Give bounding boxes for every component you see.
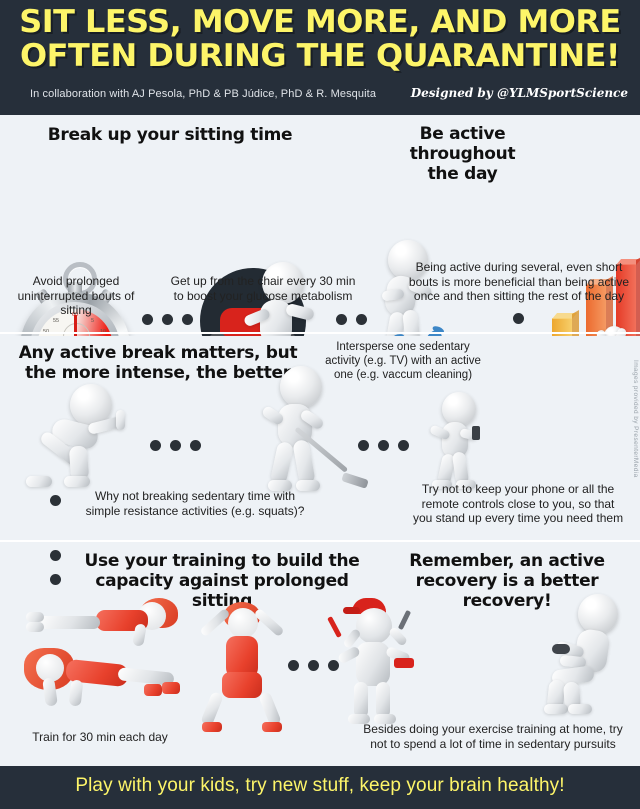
heading-line: Remember, an active bbox=[409, 551, 604, 571]
caption-line: Try not to keep your phone or all the bbox=[422, 482, 614, 496]
section1-caption-3: Being active during several, even short … bbox=[398, 260, 640, 304]
note-line: Intersperse one sedentary bbox=[336, 341, 470, 353]
caption-line: once and then sitting the rest of the da… bbox=[414, 289, 624, 303]
infographic-page: SIT LESS, MOVE MORE, AND MORE OFTEN DURI… bbox=[0, 0, 640, 809]
section3-caption-2: Besides doing your exercise training at … bbox=[348, 722, 638, 751]
plank-exercise-illustration bbox=[22, 596, 182, 644]
caption-line: to boost your glucose metabolism bbox=[174, 289, 353, 303]
footer-text: Play with your kids, try new stuff, keep… bbox=[0, 775, 640, 797]
dot-marker bbox=[50, 495, 61, 506]
section-break-up-sitting: Break up your sitting time Be active thr… bbox=[0, 116, 640, 334]
image-source-credit: Images provided by PresenterMedia bbox=[632, 360, 639, 478]
title-line-2: OFTEN DURING THE QUARANTINE! bbox=[0, 39, 640, 73]
title-line-1: SIT LESS, MOVE MORE, AND MORE bbox=[19, 4, 620, 40]
dots-separator-4 bbox=[358, 440, 409, 451]
heading-right-line-3: the day bbox=[428, 164, 498, 184]
section-active-break: Any active break matters, but the more i… bbox=[0, 336, 640, 542]
caption-line: not to spend a lot of time in sedentary … bbox=[370, 737, 615, 751]
section-divider-1 bbox=[0, 332, 640, 334]
caption-line: remote controls close to you, so that bbox=[422, 497, 615, 511]
dot-marker bbox=[50, 574, 61, 585]
seated-gamer-illustration bbox=[546, 594, 632, 714]
header-banner: SIT LESS, MOVE MORE, AND MORE OFTEN DURI… bbox=[0, 0, 640, 115]
section1-caption-1: Avoid prolonged uninterrupted bouts of s… bbox=[6, 274, 146, 318]
section3-caption-1: Train for 30 min each day bbox=[10, 730, 190, 745]
dot-marker bbox=[513, 313, 524, 324]
section-divider-2 bbox=[0, 540, 640, 542]
caption-line: uninterrupted bouts of sitting bbox=[18, 289, 135, 318]
caption-line: Avoid prolonged bbox=[33, 274, 120, 288]
section-training-capacity: Use your training to build the capacity … bbox=[0, 544, 640, 766]
pushing-person-illustration bbox=[26, 384, 136, 494]
dots-separator-5 bbox=[288, 660, 339, 671]
person-with-phone-illustration bbox=[424, 392, 492, 496]
section2-caption-2: Try not to keep your phone or all the re… bbox=[396, 482, 640, 526]
caption-line: you stand up every time you need them bbox=[413, 511, 623, 525]
section1-heading: Break up your sitting time bbox=[20, 125, 320, 145]
collaboration-credit: In collaboration with AJ Pesola, PhD & P… bbox=[30, 88, 376, 100]
section2-caption-1: Why not breaking sedentary time with sim… bbox=[70, 489, 320, 518]
section1-caption-2: Get up from the chair every 30 min to bo… bbox=[163, 274, 363, 303]
dots-separator-2 bbox=[336, 314, 367, 325]
page-title: SIT LESS, MOVE MORE, AND MORE OFTEN DURI… bbox=[0, 5, 640, 73]
dots-separator-1 bbox=[142, 314, 193, 325]
handyman-illustration bbox=[336, 594, 428, 730]
caption-line: simple resistance activities (e.g. squat… bbox=[86, 504, 305, 518]
heading-right-line-2: throughout bbox=[410, 144, 516, 164]
footer-banner: Play with your kids, try new stuff, keep… bbox=[0, 766, 640, 809]
dots-separator-3 bbox=[150, 440, 201, 451]
caption-line: bouts is more beneficial than being acti… bbox=[409, 275, 629, 289]
jumping-jack-illustration bbox=[196, 592, 288, 732]
caption-line: Get up from the chair every 30 min bbox=[171, 274, 356, 288]
designer-credit[interactable]: Designed by @YLMSportScience bbox=[411, 86, 628, 100]
caption-line: Besides doing your exercise training at … bbox=[363, 722, 622, 736]
caption-line: Why not breaking sedentary time with bbox=[95, 489, 295, 503]
heading-line: Any active break matters, but bbox=[19, 343, 298, 363]
vacuuming-person-illustration bbox=[262, 366, 372, 494]
pushup-exercise-illustration bbox=[14, 648, 186, 710]
caption-line: Being active during several, even short bbox=[416, 260, 623, 274]
caption-line: Train for 30 min each day bbox=[32, 730, 168, 744]
dot-marker bbox=[50, 550, 61, 561]
heading-line: Use your training to build the bbox=[85, 551, 360, 571]
heading-line: the more intense, the better bbox=[25, 363, 291, 383]
section1-heading-right: Be active throughout the day bbox=[400, 124, 525, 184]
heading-right-line-1: Be active bbox=[420, 124, 506, 144]
